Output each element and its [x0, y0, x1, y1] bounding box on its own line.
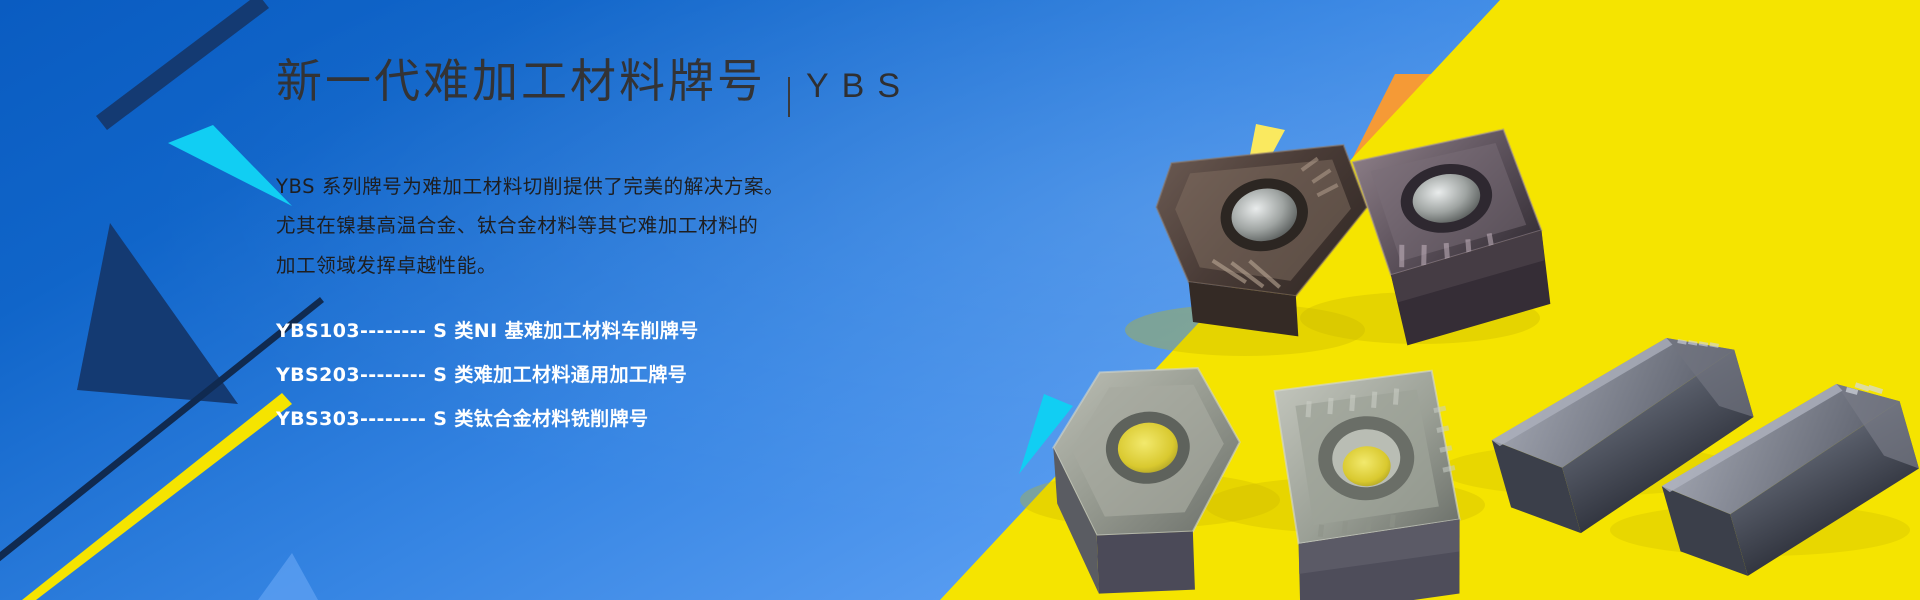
- description-line: 尤其在镍基高温合金、钛合金材料等其它难加工材料的: [276, 215, 1036, 237]
- decor-navy-bar: [96, 0, 269, 130]
- banner-content: 新一代难加工材料牌号 YBS YBS 系列牌号为难加工材料切削提供了完美的解决方…: [276, 58, 1036, 453]
- decor-pale-yellow-triangle: [1238, 124, 1285, 217]
- page-title: 新一代难加工材料牌号: [276, 58, 766, 104]
- decor-navy-triangle: [77, 223, 238, 404]
- insert-pentagon-milling: [1044, 359, 1255, 600]
- grade-list: YBS103-------- S 类NI 基难加工材料车削牌号 YBS203--…: [276, 321, 1036, 430]
- banner-title-row: 新一代难加工材料牌号 YBS: [276, 58, 1036, 130]
- insert-wnmg-turning: [1148, 125, 1390, 360]
- product-banner: 新一代难加工材料牌号 YBS YBS 系列牌号为难加工材料切削提供了完美的解决方…: [0, 0, 1920, 600]
- insert-cnmg-turning: [1352, 126, 1557, 349]
- insert-square-milling: [1274, 370, 1464, 600]
- banner-description: YBS 系列牌号为难加工材料切削提供了完美的解决方案。 尤其在镍基高温合金、钛合…: [276, 176, 1036, 277]
- title-divider: [788, 77, 790, 117]
- grade-item-ybs303: YBS303-------- S 类钛合金材料铣削牌号: [276, 409, 1036, 430]
- title-series-code: YBS: [806, 69, 913, 103]
- grade-item-ybs203: YBS203-------- S 类难加工材料通用加工牌号: [276, 365, 1036, 386]
- description-line: 加工领域发挥卓越性能。: [276, 255, 1036, 277]
- insert-grooving-left: [1478, 321, 1771, 550]
- decor-cyan-triangle-left: [168, 125, 292, 206]
- decor-yellow-thin-lines: [1162, 3, 1825, 500]
- decor-yellow-field: [940, 0, 1920, 600]
- description-line: YBS 系列牌号为难加工材料切削提供了完美的解决方案。: [276, 176, 1036, 198]
- decor-yellow-stripe: [22, 393, 292, 600]
- grade-item-ybs103: YBS103-------- S 类NI 基难加工材料车削牌号: [276, 321, 1036, 342]
- decor-orange-triangle: [1345, 74, 1474, 173]
- decor-lightblue-triangle: [258, 553, 318, 600]
- insert-grooving-right: [1648, 369, 1920, 592]
- decor-blue-wedge: [1500, 0, 1920, 40]
- product-inserts-group: [1020, 125, 1920, 600]
